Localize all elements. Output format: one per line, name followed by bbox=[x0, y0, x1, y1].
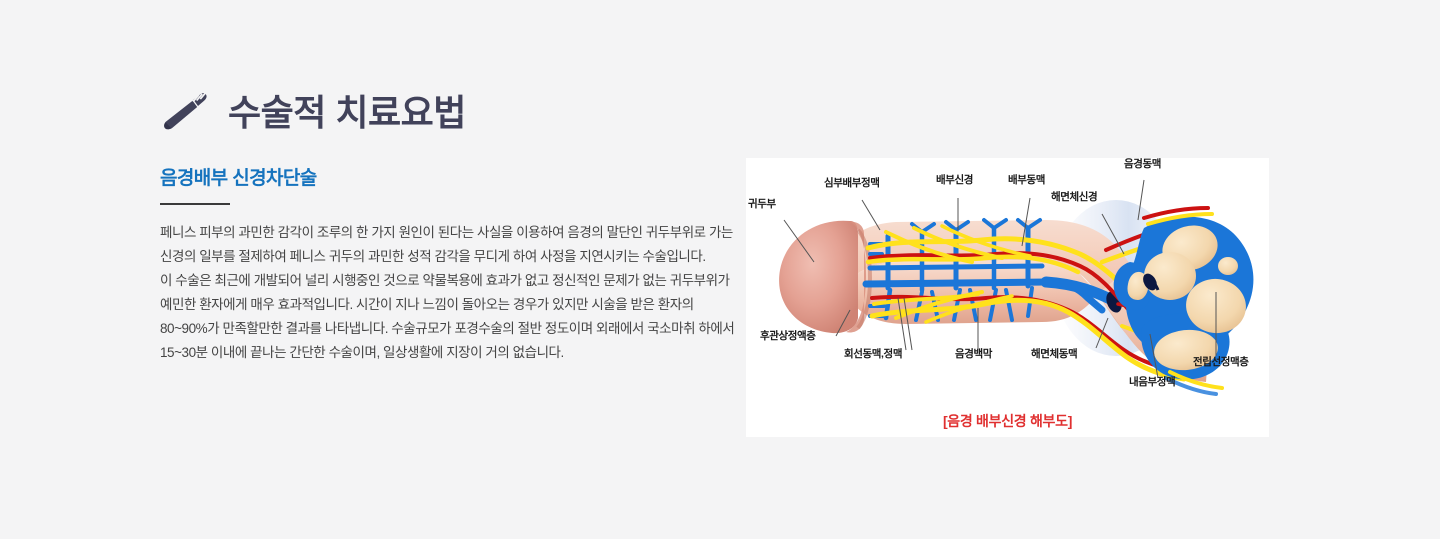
content-column: 수술적 치료요법 음경배부 신경차단술 페니스 피부의 과민한 감각이 조루의 … bbox=[160, 84, 740, 365]
scalpel-icon bbox=[160, 91, 208, 135]
page-title: 수술적 치료요법 bbox=[228, 95, 466, 131]
label-후관상정액층: 후관상정액층 bbox=[760, 331, 816, 342]
figure-caption: [음경 배부신경 해부도] bbox=[746, 411, 1269, 431]
label-배부동맥: 배부동맥 bbox=[1008, 175, 1045, 186]
anatomy-figure-panel: 귀두부 심부배부정맥 배부신경 배부동맥 해면체신경 음경동맥 후관상정액층 회… bbox=[746, 158, 1269, 437]
subtitle-divider bbox=[160, 203, 230, 205]
body-paragraph-2: 이 수술은 최근에 개발되어 널리 시행중인 것으로 약물복용에 효과가 없고 … bbox=[160, 269, 740, 365]
section-subtitle: 음경배부 신경차단술 bbox=[160, 168, 740, 191]
label-배부신경: 배부신경 bbox=[936, 175, 973, 186]
page-root: 수술적 치료요법 음경배부 신경차단술 페니스 피부의 과민한 감각이 조루의 … bbox=[0, 0, 1440, 539]
label-해면체동맥: 해면체동맥 bbox=[1031, 349, 1077, 360]
label-전립선정맥층: 전립선정맥층 bbox=[1193, 357, 1249, 368]
body-paragraph-1: 페니스 피부의 과민한 감각이 조루의 한 가지 원인이 된다는 사실을 이용하… bbox=[160, 221, 740, 269]
penile-dorsal-nerve-anatomy-diagram bbox=[746, 158, 1269, 407]
page-header: 수술적 치료요법 bbox=[160, 84, 740, 142]
label-음경동맥: 음경동맥 bbox=[1124, 159, 1161, 170]
label-귀두부: 귀두부 bbox=[748, 199, 776, 210]
label-내음부정맥: 내음부정맥 bbox=[1129, 377, 1175, 388]
section-body: 페니스 피부의 과민한 감각이 조루의 한 가지 원인이 된다는 사실을 이용하… bbox=[160, 221, 740, 365]
label-음경백막: 음경백막 bbox=[955, 349, 992, 360]
label-회선동맥정맥: 회선동맥,정맥 bbox=[844, 349, 902, 360]
anatomy-figure-stage: 귀두부 심부배부정맥 배부신경 배부동맥 해면체신경 음경동맥 후관상정액층 회… bbox=[746, 158, 1269, 437]
label-해면체신경: 해면체신경 bbox=[1051, 192, 1097, 203]
label-심부배부정맥: 심부배부정맥 bbox=[824, 178, 880, 189]
